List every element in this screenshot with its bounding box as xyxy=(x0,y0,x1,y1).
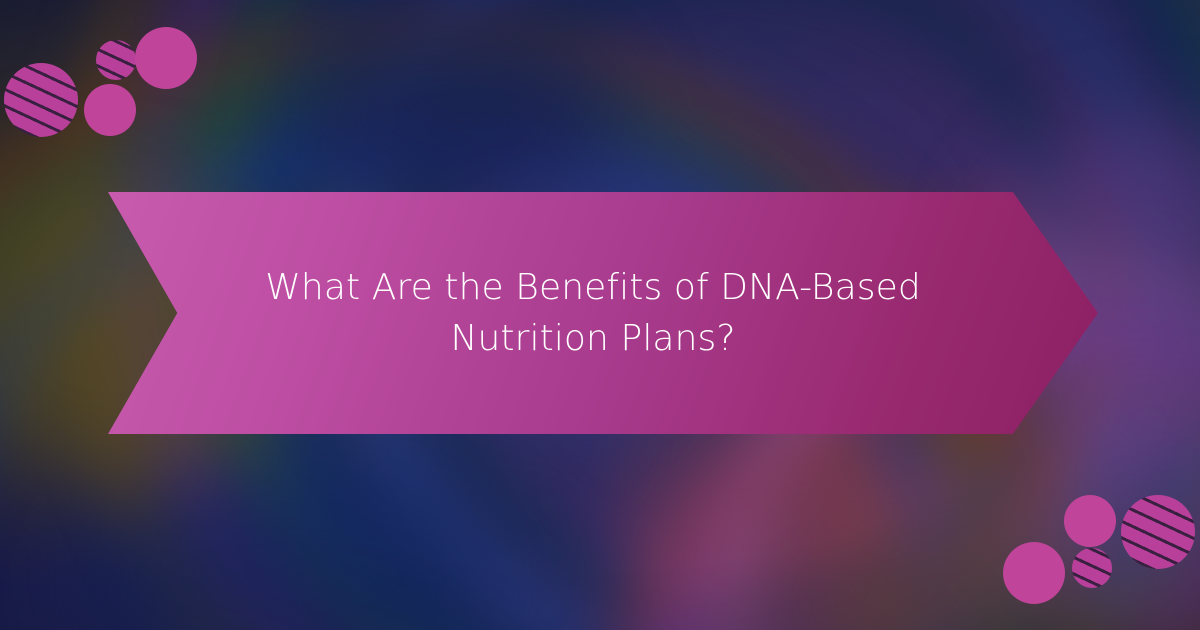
page-title: What Are the Benefits of DNA-Based Nutri… xyxy=(238,262,948,364)
decor-circle-solid-medium-bottom-right xyxy=(1064,495,1116,547)
social-card: What Are the Benefits of DNA-Based Nutri… xyxy=(0,0,1200,630)
decor-circle-solid-medium-top-left xyxy=(84,84,136,136)
decor-circle-solid-large-bottom-right xyxy=(1003,542,1065,604)
decor-circle-striped-small-bottom-right xyxy=(1072,548,1112,588)
decor-circle-striped-large-top-left xyxy=(4,63,78,137)
decor-circle-solid-large-top-left xyxy=(135,27,197,89)
decor-circle-striped-small-top-left xyxy=(96,40,136,80)
title-banner: What Are the Benefits of DNA-Based Nutri… xyxy=(108,192,1098,434)
decor-circle-striped-large-bottom-right xyxy=(1121,495,1195,569)
